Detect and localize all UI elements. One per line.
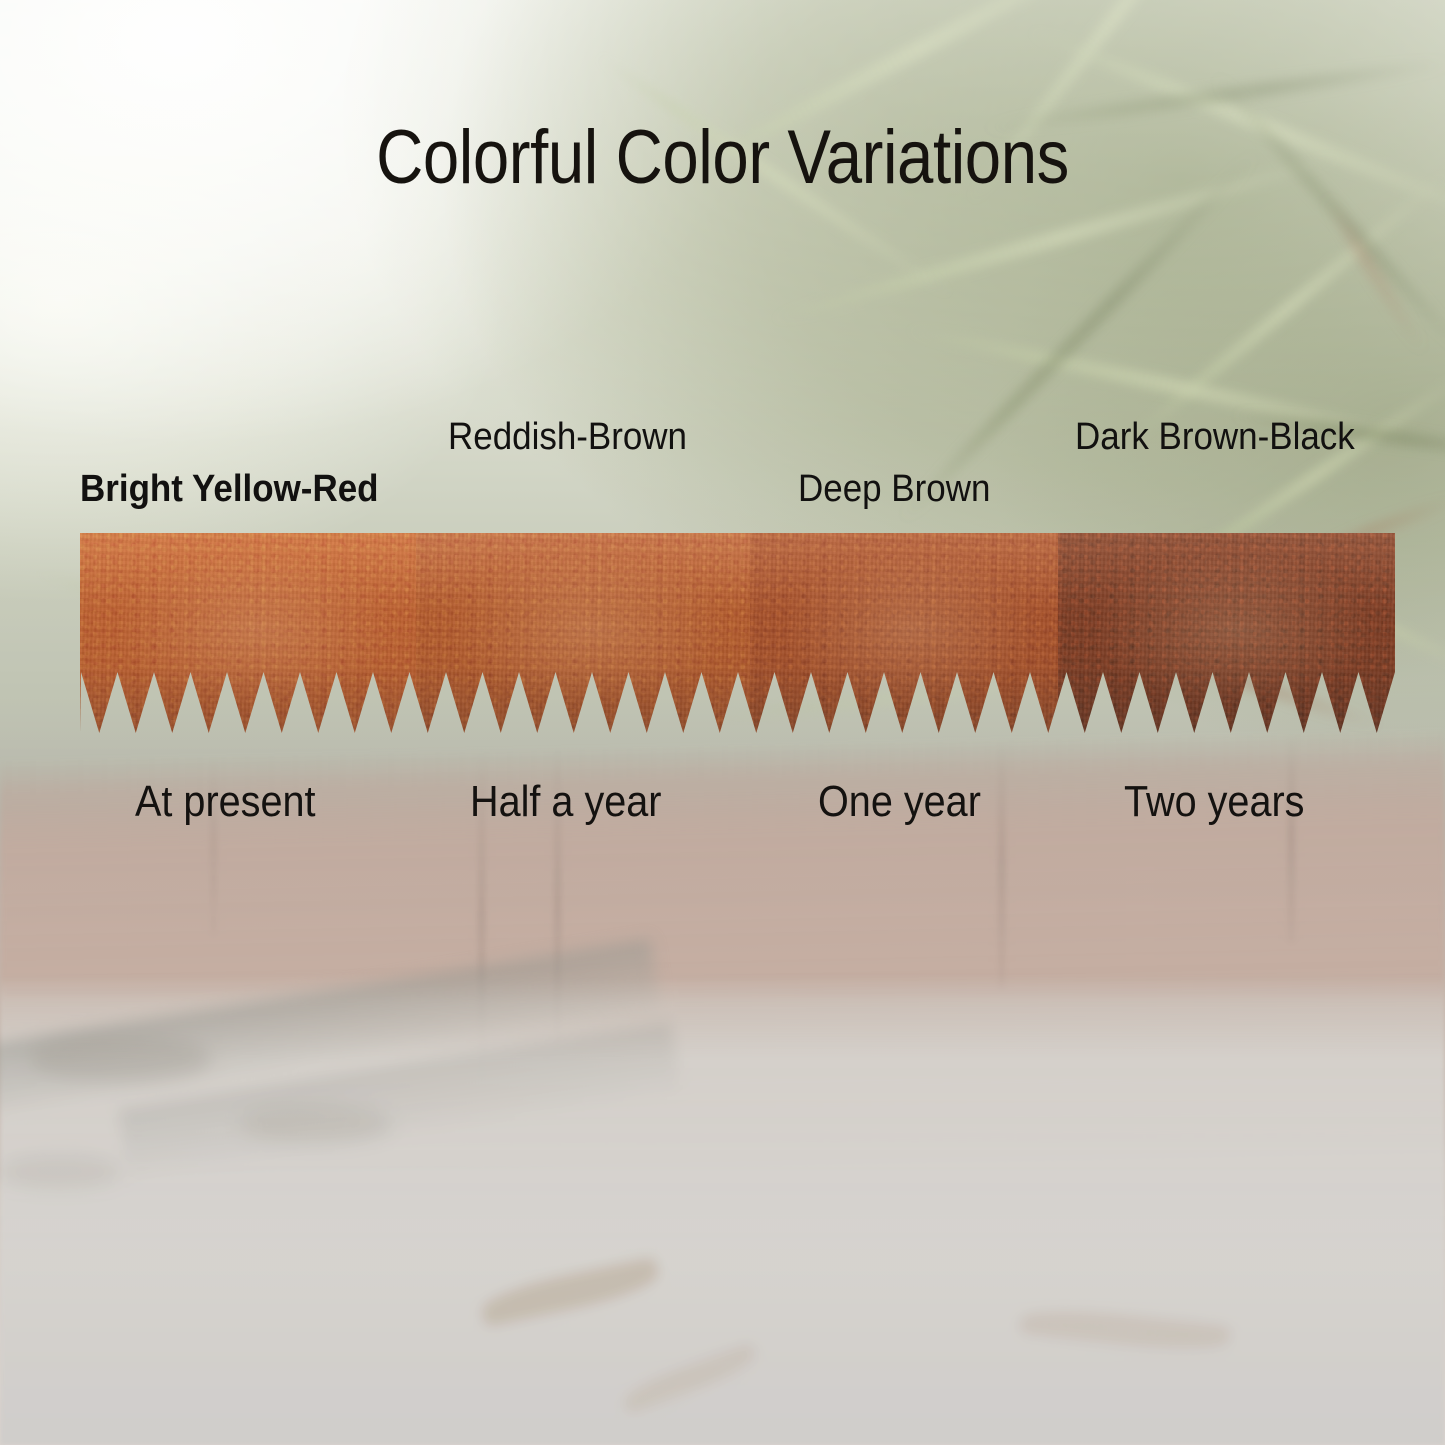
color-label-two-years: Dark Brown-Black xyxy=(1075,418,1355,456)
page-title: Colorful Color Variations xyxy=(101,120,1344,196)
screenshot-stage: Colorful Color Variations Bright Yellow-… xyxy=(0,0,1445,1445)
time-label-two-years: Two years xyxy=(1124,780,1304,824)
color-label-half-a-year: Reddish-Brown xyxy=(448,418,687,456)
time-label-one-year: One year xyxy=(818,780,981,824)
swatch-one-year[interactable] xyxy=(750,533,1058,733)
color-label-one-year: Deep Brown xyxy=(798,470,990,508)
content-overlay: Colorful Color Variations Bright Yellow-… xyxy=(0,0,1445,1445)
time-label-at-present: At present xyxy=(135,780,316,824)
time-label-half-a-year: Half a year xyxy=(470,780,661,824)
color-swatch-band xyxy=(80,533,1395,733)
color-label-at-present: Bright Yellow-Red xyxy=(80,470,378,508)
